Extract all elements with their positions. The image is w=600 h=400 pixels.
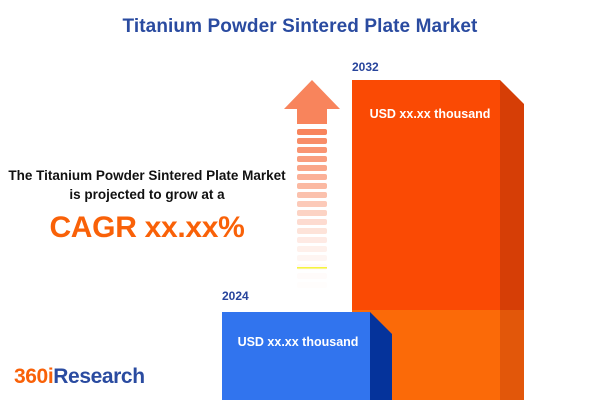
bar-2024-front <box>222 312 370 400</box>
bar-label-2024: 2024 <box>222 289 249 303</box>
bar-2032-value: USD xx.xx thousand <box>364 107 496 121</box>
brand-logo: 360iResearch <box>14 365 145 389</box>
growth-arrow-icon <box>283 78 341 290</box>
bar-2024-value: USD xx.xx thousand <box>232 335 364 349</box>
bar-2024: USD xx.xx thousand <box>222 312 392 400</box>
logo-prefix: 360i <box>14 365 53 388</box>
caption-block: The Titanium Powder Sintered Plate Marke… <box>8 166 286 244</box>
page-title: Titanium Powder Sintered Plate Market <box>0 16 600 38</box>
bar-label-2032: 2032 <box>352 60 379 74</box>
infographic-canvas: Titanium Powder Sintered Plate Market Th… <box>0 0 600 400</box>
logo-suffix: Research <box>53 365 144 388</box>
cagr-value: CAGR xx.xx% <box>8 212 286 244</box>
caption-text: The Titanium Powder Sintered Plate Marke… <box>8 166 286 204</box>
